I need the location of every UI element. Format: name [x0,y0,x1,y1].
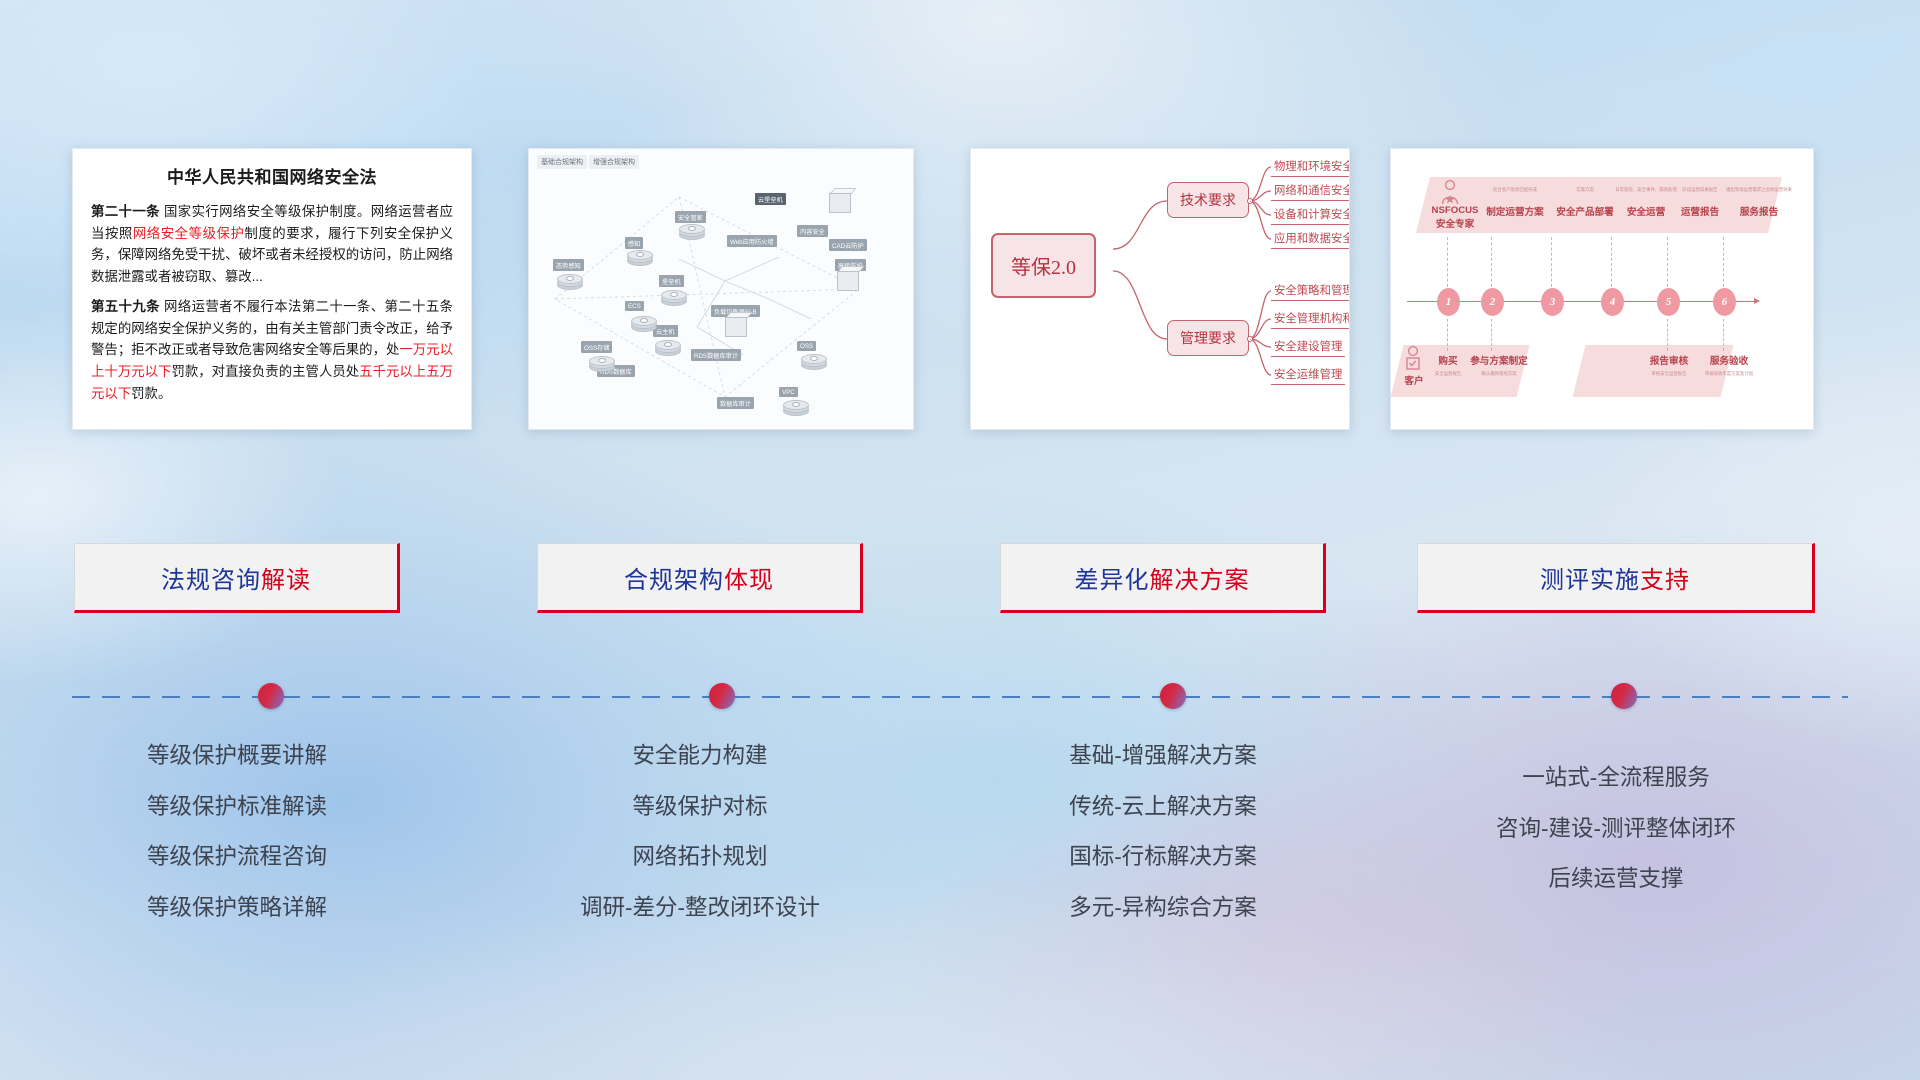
roadmap-bottom-item: 报告审核 审核安全运营报告 [1639,353,1699,377]
roadmap-top-item-sub: 输出等保运营需求之总体运营效果 [1707,187,1811,193]
detail-column-4: 一站式-全流程服务 咨询-建设-测评整体闭环 后续运营支撑 [1417,745,1815,919]
node-rds-audit: RDS数据库审计 [691,349,741,361]
banner-text-red: 体现 [724,560,774,595]
mindmap-leaf: 安全策略和管理制度 [1271,282,1350,301]
list-item: 后续运营支撑 [1417,868,1815,891]
mindmap-collapse-icon[interactable] [1247,336,1253,342]
law-article-21: 第二十一条 国家实行网络安全等级保护制度。网络运营者应当按照网络安全等级保护制度… [91,201,453,288]
roadmap-step: 3 [1541,288,1564,316]
mindmap-leaf: 安全管理机构和人员 [1271,310,1350,329]
card-mindmap-dengbao: 等保2.0 技术要求 管理要求 物理和环境安全 网络和通信安全 设备和计算安全 … [970,148,1350,430]
mindmap-branch-technical: 技术要求 [1167,182,1249,218]
list-item: 传统-云上解决方案 [1000,796,1326,819]
roadmap-step: 5 [1657,288,1680,316]
roadmap-step: 2 [1481,288,1504,316]
architecture-puck [679,223,705,240]
node-oss-storage: OSS存储 [581,341,612,353]
mindmap-leaf: 网络和通信安全 [1271,182,1350,201]
roadmap-dashed-link [1447,237,1448,287]
node-ecs: ECS [625,301,644,311]
article-59-text-c: 罚款。 [131,386,171,401]
list-item: 安全能力构建 [537,745,863,768]
node-situation-awareness: 态势感知 [553,259,584,271]
timeline-dot[interactable] [1160,683,1186,709]
law-title: 中华人民共和国网络安全法 [91,163,453,188]
timeline-dot[interactable] [1611,683,1637,709]
mindmap-leaf: 应用和数据安全 [1271,230,1350,249]
architecture-server-box [725,317,747,337]
detail-column-1: 等级保护概要讲解 等级保护标准解读 等级保护流程咨询 等级保护策略详解 [74,745,400,947]
roadmap-bottom-item-sub: 审核安全运营报告 [1639,371,1699,377]
roadmap-brand-sub: 安全专家 [1419,216,1491,230]
banner-differentiated-solution[interactable]: 差异化解决方案 [1000,543,1326,613]
mindmap-collapse-icon[interactable] [1247,198,1253,204]
banner-regulation-consulting[interactable]: 法规咨询解读 [74,543,400,613]
architecture-puck [655,339,681,356]
law-article-59: 第五十九条 网络运营者不履行本法第二十一条、第二十五条规定的网络安全保护义务的，… [91,296,453,405]
node-waf: Web应用防火墙 [727,235,777,247]
roadmap-dashed-link [1611,237,1612,287]
architecture-server-box [837,271,859,291]
card-compliance-architecture: 基础合规架构 增强合规架构 [528,148,914,430]
article-21-label: 第二十一条 [91,204,160,219]
list-item: 国标-行标解决方案 [1000,846,1326,869]
detail-column-3: 基础-增强解决方案 传统-云上解决方案 国标-行标解决方案 多元-异构综合方案 [1000,745,1326,947]
article-21-highlight: 网络安全等级保护 [133,226,245,241]
roadmap-bottom-item-sub: 确认最终落地方案 [1461,371,1537,377]
mindmap-branch-management: 管理要求 [1167,320,1249,356]
list-item: 一站式-全流程服务 [1417,767,1815,790]
roadmap-step: 6 [1713,288,1736,316]
mindmap-leaf: 物理和环境安全 [1271,158,1350,177]
list-item: 等级保护对标 [537,796,863,819]
expert-person-icon [1439,179,1461,205]
roadmap-bottom-item: 服务验收 审核验收年度方案及计划 [1697,353,1761,377]
banner-compliance-architecture[interactable]: 合规架构体现 [537,543,863,613]
architecture-puck [627,249,653,266]
list-item: 等级保护概要讲解 [74,745,400,768]
card-nsfocus-roadmap: NSFOCUS 安全专家 结合客户现状匹配形成 制定运营方案 实施方案 安全产品… [1390,148,1814,430]
timeline-dashed-line [72,696,1848,698]
list-item: 等级保护标准解读 [74,796,400,819]
list-item: 咨询-建设-测评整体闭环 [1417,818,1815,841]
list-item: 网络拓扑规划 [537,846,863,869]
node-security-butler: 安全管家 [675,211,706,223]
mindmap-leaf: 设备和计算安全 [1271,206,1350,225]
node-content-security: 内容安全 [797,225,828,237]
roadmap-dashed-link [1723,237,1724,287]
article-59-text-b: 罚款，对直接负责的主管人员处 [171,364,359,379]
timeline-dot[interactable] [258,683,284,709]
architecture-server-box [829,193,851,213]
node-cad-protection: CAD云防护 [829,239,867,251]
roadmap-step: 1 [1437,288,1460,316]
detail-column-2: 安全能力构建 等级保护对标 网络拓扑规划 调研-差分-整改闭环设计 [537,745,863,947]
article-59-label: 第五十九条 [91,299,160,314]
screenshot-card-row: 中华人民共和国网络安全法 第二十一条 国家实行网络安全等级保护制度。网络运营者应… [0,148,1920,438]
node-perception: 感知 [625,237,643,249]
roadmap-dashed-link [1667,319,1668,351]
banner-assessment-support[interactable]: 测评实施支持 [1417,543,1815,613]
timeline-dot[interactable] [709,683,735,709]
mindmap-leaf: 安全建设管理 [1271,338,1345,357]
architecture-puck [557,273,583,290]
banner-text-red: 解决方案 [1150,560,1250,595]
list-item: 调研-差分-整改闭环设计 [537,897,863,920]
architecture-puck [783,399,809,416]
roadmap-bottom-item-title: 服务验收 [1697,353,1761,367]
architecture-puck [589,355,615,372]
mindmap-leaf: 安全运维管理 [1271,366,1345,385]
roadmap-top-item: 输出等保运营需求之总体运营效果 服务报告 [1707,187,1811,218]
architecture-puck [631,315,657,332]
architecture-puck [661,289,687,306]
node-vpc: VPC [779,387,798,397]
roadmap-bottom-item-title: 参与方案制定 [1461,353,1537,367]
banner-text-red: 支持 [1640,560,1690,595]
list-item: 多元-异构综合方案 [1000,897,1326,920]
node-db-audit: 数据库审计 [717,397,754,409]
roadmap-step: 4 [1601,288,1624,316]
architecture-puck [801,353,827,370]
roadmap-dashed-link [1551,237,1552,287]
banner-text-blue: 合规架构 [624,560,724,595]
node-cloud-bastion: 云堡垒机 [755,193,786,205]
node-bastion-host: 堡垒机 [659,275,684,287]
roadmap-dashed-link [1723,319,1724,351]
list-item: 等级保护策略详解 [74,897,400,920]
list-item: 基础-增强解决方案 [1000,745,1326,768]
roadmap-top-item-title: 服务报告 [1707,204,1811,218]
mindmap-root: 等保2.0 [991,233,1096,298]
banner-row: 法规咨询解读 合规架构体现 差异化解决方案 测评实施支持 [0,543,1920,617]
customer-person-icon [1403,345,1423,371]
roadmap-dashed-link [1491,237,1492,287]
card-cybersecurity-law: 中华人民共和国网络安全法 第二十一条 国家实行网络安全等级保护制度。网络运营者应… [72,148,472,430]
roadmap-dashed-link [1447,319,1448,351]
roadmap-dashed-link [1667,237,1668,287]
node-oss: OSS [797,341,816,351]
roadmap-dashed-link [1491,319,1492,351]
list-item: 等级保护流程咨询 [74,846,400,869]
banner-text-red: 解读 [261,560,311,595]
banner-text-blue: 法规咨询 [161,560,261,595]
banner-text-blue: 测评实施 [1540,560,1640,595]
roadmap-bottom-item-sub: 审核验收年度方案及计划 [1697,371,1761,377]
banner-text-blue: 差异化 [1075,560,1150,595]
roadmap-bottom-item: 参与方案制定 确认最终落地方案 [1461,353,1537,377]
roadmap-bottom-item-title: 报告审核 [1639,353,1699,367]
